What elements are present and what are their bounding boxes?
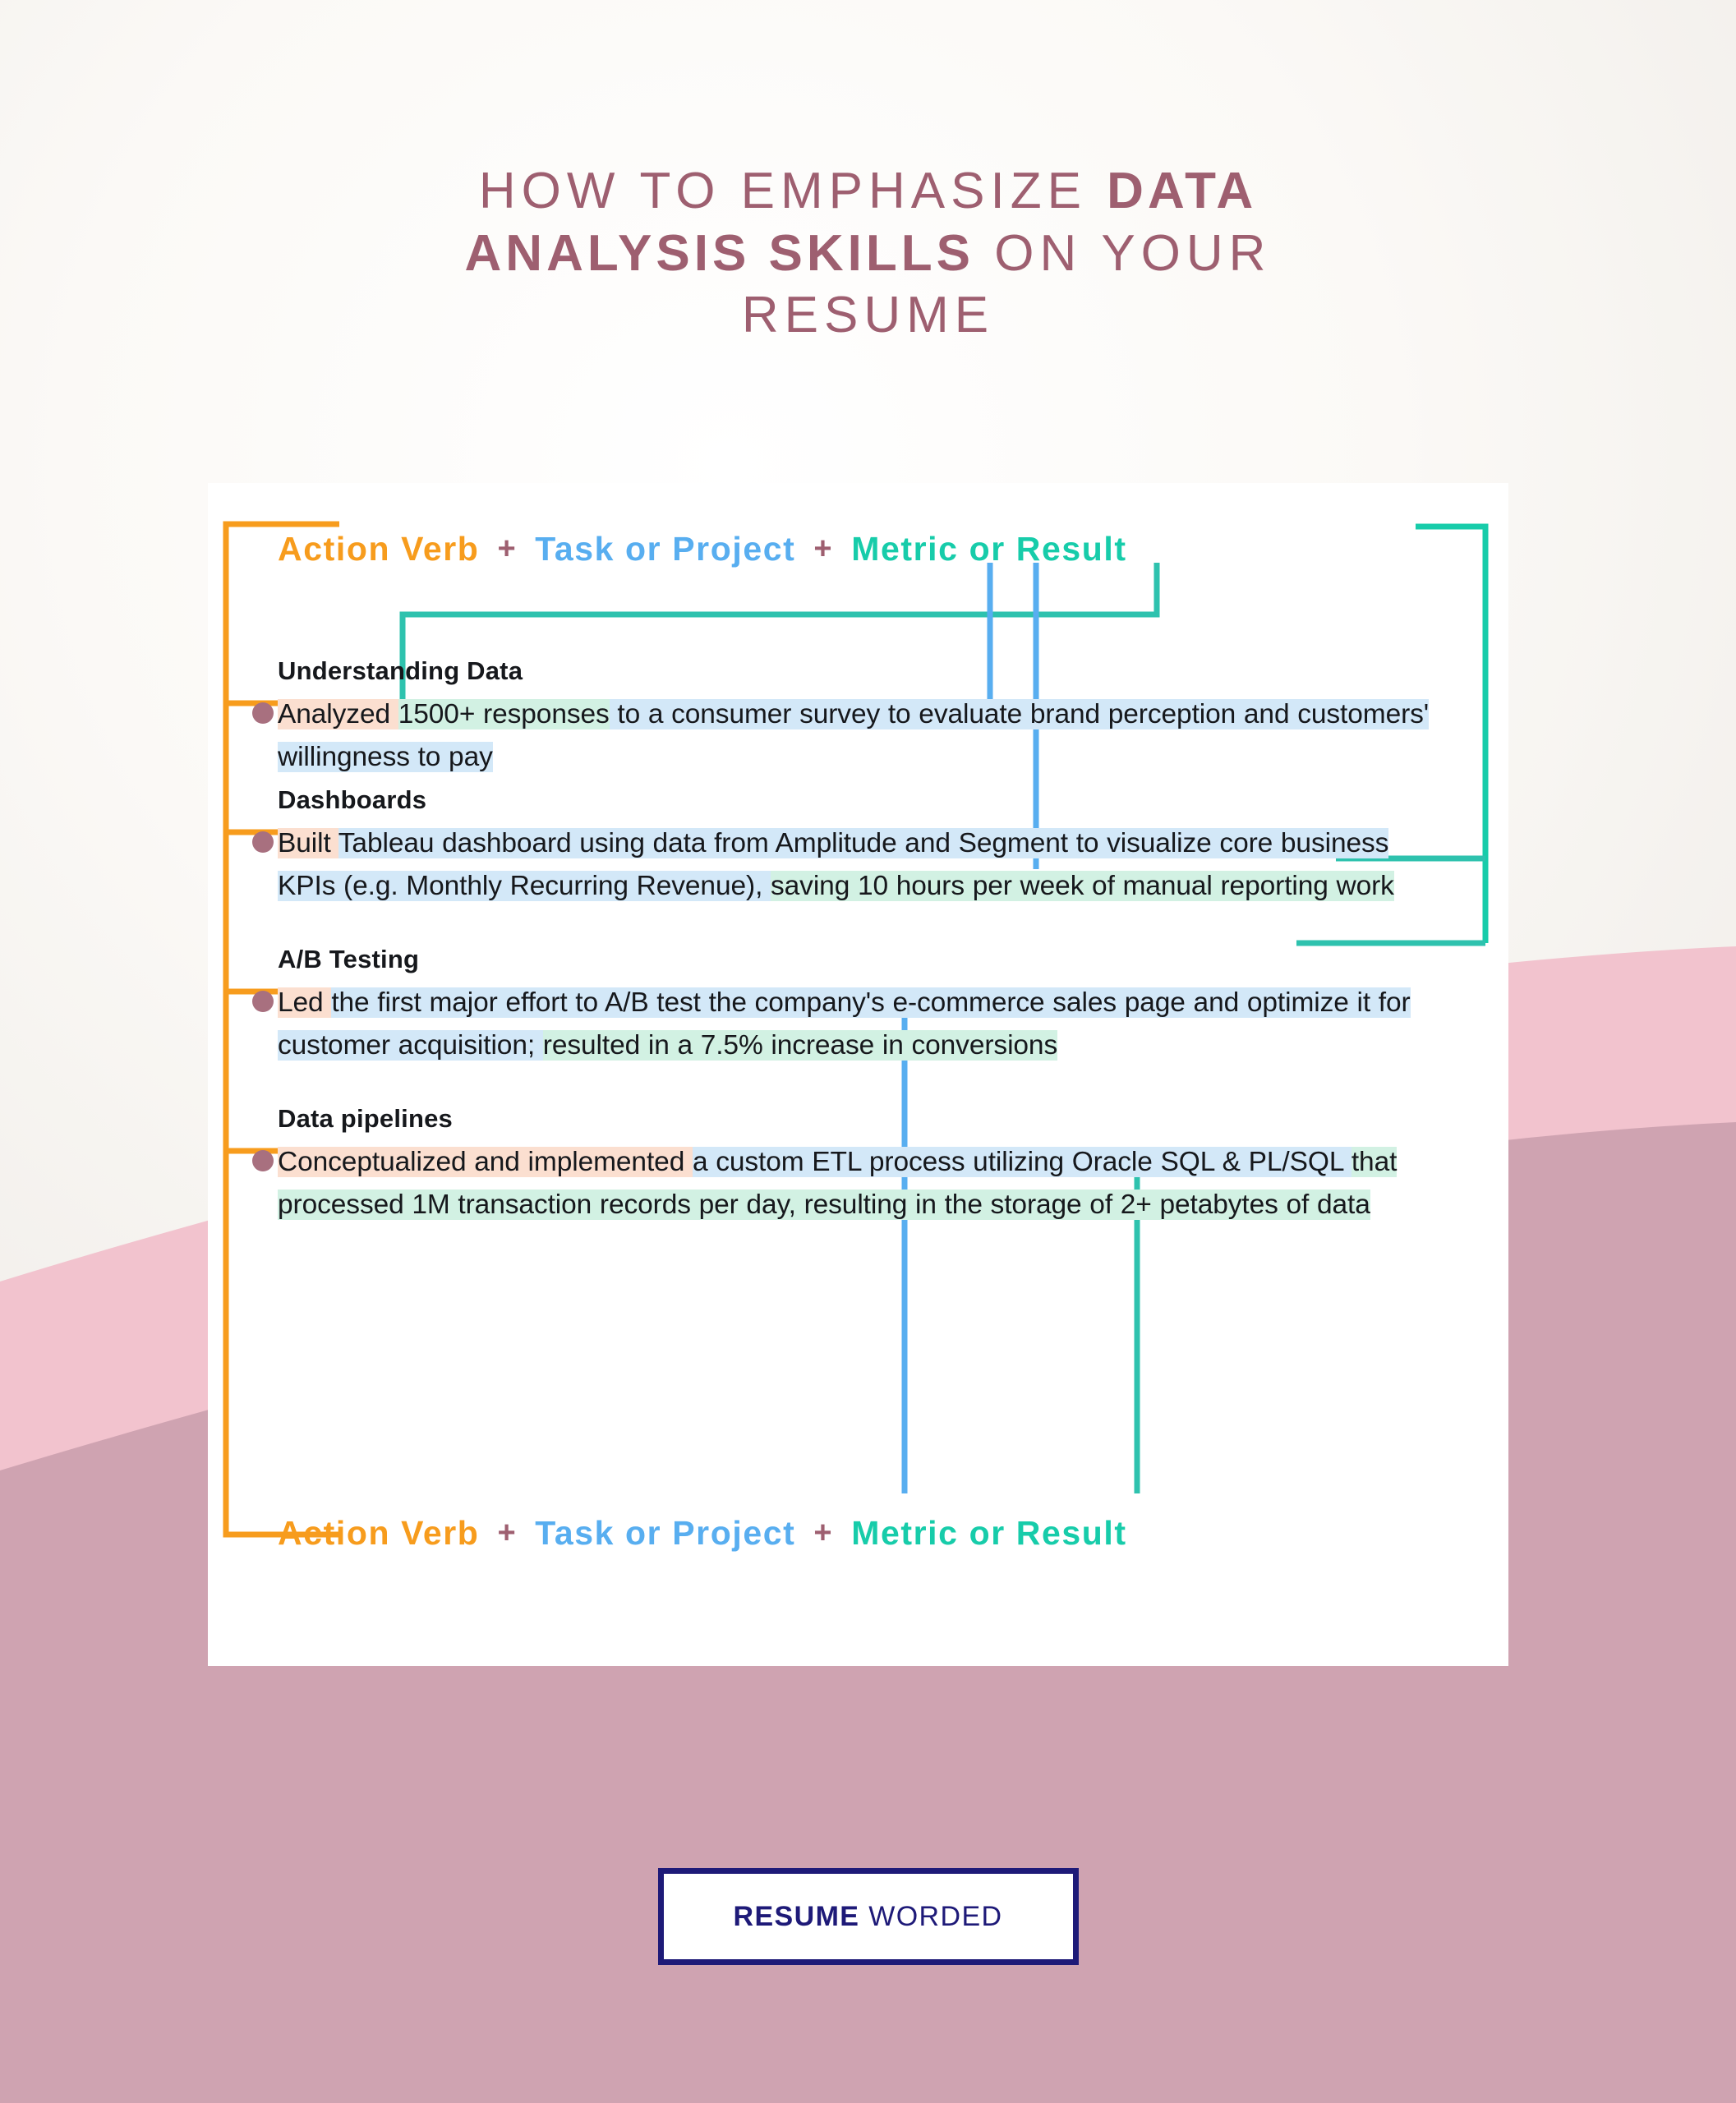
bullet-item: Understanding Data Analyzed 1500+ respon…: [278, 656, 1444, 779]
bullet-dot-icon: [252, 702, 274, 724]
bullet-heading: Data pipelines: [278, 1104, 1444, 1134]
formula-row-top: Action Verb + Task or Project + Metric o…: [278, 530, 1127, 568]
page-title: HOW TO EMPHASIZE DATA ANALYSIS SKILLS ON…: [0, 160, 1736, 347]
formula-plus-2-bottom: +: [795, 1516, 851, 1551]
formula-plus-2-top: +: [795, 532, 851, 567]
formula-plus-1-bottom: +: [479, 1516, 535, 1551]
highlight-action-verb: Led: [278, 987, 331, 1018]
formula-task-or-project-bottom: Task or Project: [535, 1514, 795, 1553]
bullet-dot-icon: [252, 831, 274, 853]
resume-worded-logo[interactable]: RESUME WORDED: [658, 1868, 1079, 1965]
formula-action-verb-top: Action Verb: [278, 530, 479, 568]
bullet-heading: Understanding Data: [278, 656, 1444, 686]
bullet-body: Led the first major effort to A/B test t…: [278, 982, 1444, 1067]
bullet-item: A/B Testing Led the first major effort t…: [278, 945, 1444, 1067]
title-line-2-bold: ANALYSIS SKILLS: [465, 225, 974, 282]
formula-metric-or-result-top: Metric or Result: [851, 530, 1126, 568]
highlight-action-verb: Conceptualized and implemented: [278, 1147, 693, 1177]
logo-text: RESUME WORDED: [734, 1901, 1003, 1933]
bullet-body: Built Tableau dashboard using data from …: [278, 822, 1444, 908]
title-line-3: RESUME: [742, 287, 994, 343]
highlight-metric: saving 10 hours per week of manual repor…: [771, 871, 1394, 901]
title-line-2-plain: ON YOUR: [974, 225, 1271, 282]
formula-task-or-project-top: Task or Project: [535, 530, 795, 568]
formula-row-bottom: Action Verb + Task or Project + Metric o…: [278, 1514, 1127, 1553]
bullet-dot-icon: [252, 991, 274, 1012]
logo-text-light: WORDED: [859, 1901, 1002, 1932]
highlight-action-verb: Analyzed: [278, 699, 398, 729]
bullet-body: Conceptualized and implemented a custom …: [278, 1141, 1444, 1226]
formula-action-verb-bottom: Action Verb: [278, 1514, 479, 1553]
title-line-1-bold: DATA: [1107, 163, 1257, 219]
highlight-action-verb: Built: [278, 828, 338, 858]
logo-text-bold: RESUME: [734, 1901, 860, 1932]
bullet-heading: A/B Testing: [278, 945, 1444, 974]
bullet-body: Analyzed 1500+ responses to a consumer s…: [278, 693, 1444, 779]
title-line-1-plain: HOW TO EMPHASIZE: [479, 163, 1107, 219]
highlight-task: a custom ETL process utilizing Oracle SQ…: [693, 1147, 1352, 1177]
bullet-dot-icon: [252, 1150, 274, 1171]
bullet-item: Dashboards Built Tableau dashboard using…: [278, 785, 1444, 908]
infographic-card: Action Verb + Task or Project + Metric o…: [208, 483, 1508, 1666]
formula-metric-or-result-bottom: Metric or Result: [851, 1514, 1126, 1553]
bullet-heading: Dashboards: [278, 785, 1444, 815]
bullet-item: Data pipelines Conceptualized and implem…: [278, 1104, 1444, 1226]
formula-plus-1-top: +: [479, 532, 535, 567]
highlight-metric: 1500+ responses: [398, 699, 610, 729]
highlight-metric: resulted in a 7.5% increase in conversio…: [543, 1030, 1057, 1061]
